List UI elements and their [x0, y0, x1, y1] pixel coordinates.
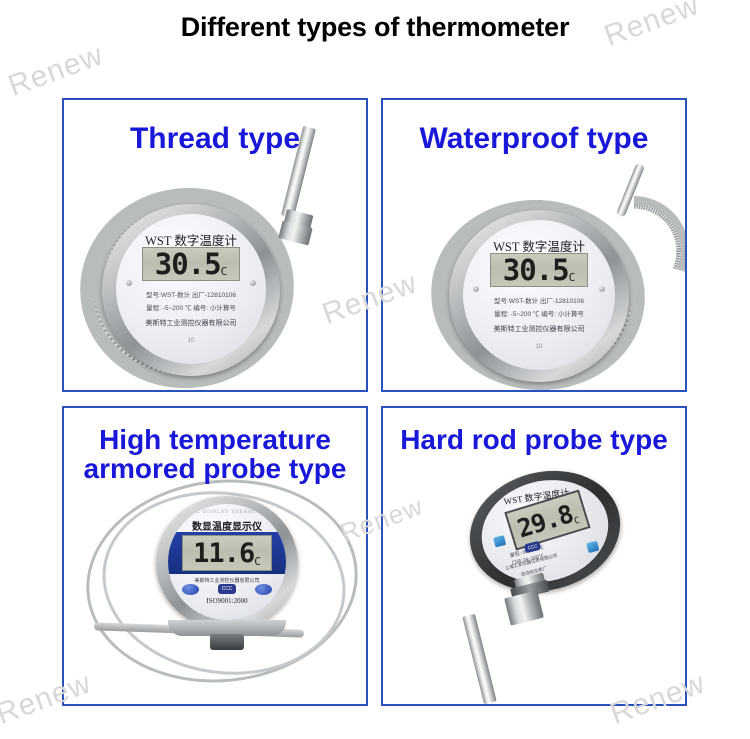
lcd-unit: C [254, 556, 261, 570]
face-screw [599, 286, 605, 292]
lcd-reading: 30.5 [155, 250, 221, 279]
device-mark: 10 [463, 344, 615, 350]
product-photo-armored-probe-type: DIGITAL DISPLAY THERMOMETER 数显温度显示仪 11.6… [64, 408, 366, 704]
panel-hard-rod-probe-type[interactable]: WST 数字温度计 29.8 C 量程:-50~300℃ 口径:38~300℃ … [381, 406, 687, 706]
lcd-unit: C [573, 517, 582, 530]
lcd-unit: C [221, 266, 228, 280]
product-photo-waterproof-type: WST 数字温度计 30.5 C 型号:WST-数计 出厂-12810106 量… [383, 100, 685, 390]
device-cert-line: ISO9001:2000 [168, 597, 286, 605]
clear-button[interactable] [493, 535, 506, 547]
panel-waterproof-type[interactable]: WST 数字温度计 30.5 C 型号:WST-数计 出厂-12810106 量… [381, 98, 687, 392]
device-mark: 10 [116, 338, 266, 344]
lcd-display: 30.5 C [142, 247, 240, 281]
device-company-line: 美斯特工业测控仪器有限公司 [168, 577, 286, 584]
device-spec-line-2: 量程: -5~200 ℃ 编号: 小计算号 [463, 308, 615, 318]
lcd-unit: C [569, 272, 576, 286]
gauge-face: DIGITAL DISPLAY THERMOMETER 数显温度显示仪 11.6… [168, 504, 286, 620]
page-title: Different types of thermometer [0, 12, 750, 43]
product-photo-thread-type: WST 数字温度计 30.5 C 型号:WST-数计 出厂-12810106 量… [64, 100, 366, 390]
probe-rod [281, 126, 316, 218]
face-screw [473, 286, 479, 292]
device-brand-line: 数显温度显示仪 [168, 518, 286, 533]
device-company-line: 美斯特工业测控仪器有限公司 [116, 318, 266, 328]
hard-rod-probe [462, 614, 496, 704]
gauge-face: WST 数字温度计 30.5 C 型号:WST-数计 出厂-12810106 量… [463, 220, 615, 370]
device-spec-line-1: 型号:WST-数计 出厂-12810106 [463, 295, 615, 305]
panel-high-temperature-armored-probe-type[interactable]: DIGITAL DISPLAY THERMOMETER 数显温度显示仪 11.6… [62, 406, 368, 706]
set-button[interactable] [586, 541, 599, 553]
cable-gland [210, 634, 244, 650]
lcd-reading: 11.6 [193, 540, 254, 567]
panel-thread-type[interactable]: WST 数字温度计 30.5 C 型号:WST-数计 出厂-12810106 量… [62, 98, 368, 392]
device-company-line: 美斯特工业测控仪器有限公司 [463, 324, 615, 334]
face-screw [250, 280, 256, 286]
face-screw [126, 280, 132, 286]
lcd-display: 11.6 C [182, 535, 272, 571]
device-spec-line-2: 量程: -5~200 ℃ 编号: 小计算号 [116, 302, 266, 312]
lcd-display: 30.5 C [490, 253, 588, 287]
set-button[interactable] [182, 584, 199, 595]
lcd-reading: 30.5 [503, 256, 569, 285]
lcd-reading: 29.8 [514, 501, 575, 541]
device-arc-line: DIGITAL DISPLAY THERMOMETER [168, 509, 286, 515]
device-spec-line-1: 型号:WST-数计 出厂-12810106 [116, 289, 266, 299]
mode-button[interactable] [255, 584, 272, 595]
product-photo-hard-rod-probe-type: WST 数字温度计 29.8 C 量程:-50~300℃ 口径:38~300℃ … [383, 408, 685, 704]
ccc-logo: CCC [218, 584, 236, 594]
gauge-face: WST 数字温度计 30.5 C 型号:WST-数计 出厂-12810106 量… [116, 214, 266, 364]
watermark-renew: Renew [4, 38, 108, 104]
